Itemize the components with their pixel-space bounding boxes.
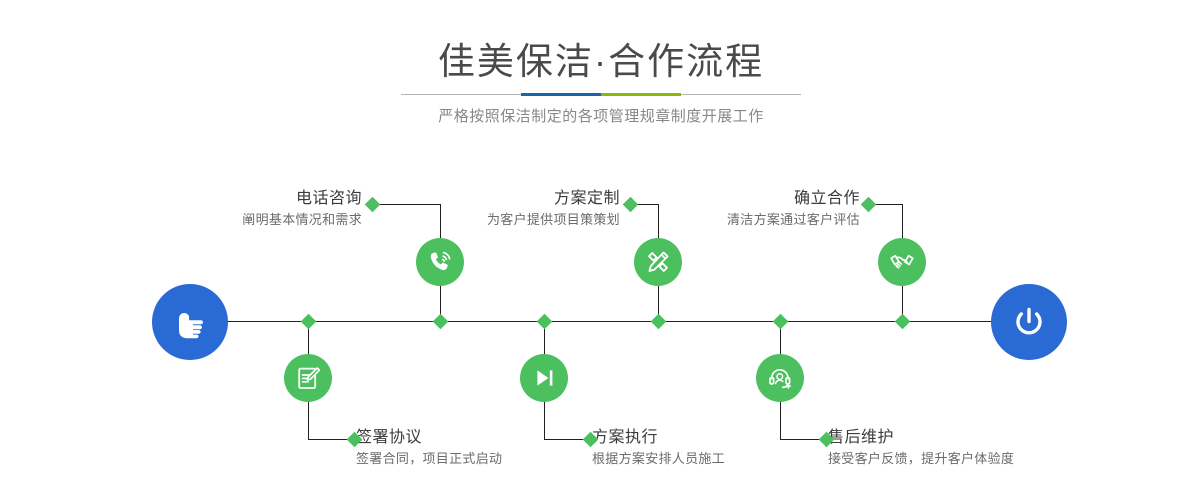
step-label-4: 方案执行 根据方案安排人员施工 <box>592 427 725 469</box>
step-title-6: 售后维护 <box>828 427 1014 449</box>
divider-green-segment <box>601 93 681 96</box>
pointing-hand-icon <box>170 302 210 342</box>
power-button-icon <box>1009 302 1049 342</box>
handshake-icon <box>888 248 916 276</box>
customer-support-icon <box>766 364 794 392</box>
document-edit-icon <box>294 364 322 392</box>
flow-diagram-page: 佳美保洁·合作流程 严格按照保洁制定的各项管理规章制度开展工作 <box>0 0 1202 502</box>
step-desc-3: 为客户提供项目策策划 <box>408 210 620 230</box>
step-title-2: 签署协议 <box>356 427 502 449</box>
pencil-ruler-icon <box>644 248 672 276</box>
title-divider <box>401 93 801 96</box>
axis-marker-1 <box>433 314 449 330</box>
axis-marker-5 <box>895 314 911 330</box>
step-title-4: 方案执行 <box>592 427 725 449</box>
page-title: 佳美保洁·合作流程 <box>0 38 1202 86</box>
timeline-start-node[interactable] <box>152 284 228 360</box>
step-title-5: 确立合作 <box>648 188 860 210</box>
axis-marker-4 <box>537 314 553 330</box>
step-desc-2: 签署合同，项目正式启动 <box>356 449 502 469</box>
step-label-3: 方案定制 为客户提供项目策策划 <box>408 188 620 230</box>
step-desc-5: 清洁方案通过客户评估 <box>648 210 860 230</box>
timeline-end-node[interactable] <box>991 284 1067 360</box>
step-desc-6: 接受客户反馈，提升客户体验度 <box>828 449 1014 469</box>
step-desc-4: 根据方案安排人员施工 <box>592 449 725 469</box>
step-node-1[interactable] <box>416 238 464 286</box>
step-node-3[interactable] <box>634 238 682 286</box>
axis-marker-6 <box>773 314 789 330</box>
step-node-2[interactable] <box>284 354 332 402</box>
play-execute-icon <box>530 364 558 392</box>
divider-blue-segment <box>521 93 601 96</box>
axis-marker-2 <box>301 314 317 330</box>
step-title-3: 方案定制 <box>408 188 620 210</box>
step-node-5[interactable] <box>878 238 926 286</box>
step-label-5: 确立合作 清洁方案通过客户评估 <box>648 188 860 230</box>
step-title-1: 电话咨询 <box>150 188 362 210</box>
label-marker-5 <box>861 197 877 213</box>
axis-marker-3 <box>651 314 667 330</box>
step-node-4[interactable] <box>520 354 568 402</box>
step-label-2: 签署协议 签署合同，项目正式启动 <box>356 427 502 469</box>
label-marker-1 <box>365 197 381 213</box>
step-label-6: 售后维护 接受客户反馈，提升客户体验度 <box>828 427 1014 469</box>
label-marker-3 <box>623 197 639 213</box>
step-node-6[interactable] <box>756 354 804 402</box>
step-label-1: 电话咨询 阐明基本情况和需求 <box>150 188 362 230</box>
page-subtitle: 严格按照保洁制定的各项管理规章制度开展工作 <box>0 105 1202 129</box>
timeline-axis <box>160 321 1050 322</box>
step-desc-1: 阐明基本情况和需求 <box>150 210 362 230</box>
phone-call-icon <box>426 248 454 276</box>
